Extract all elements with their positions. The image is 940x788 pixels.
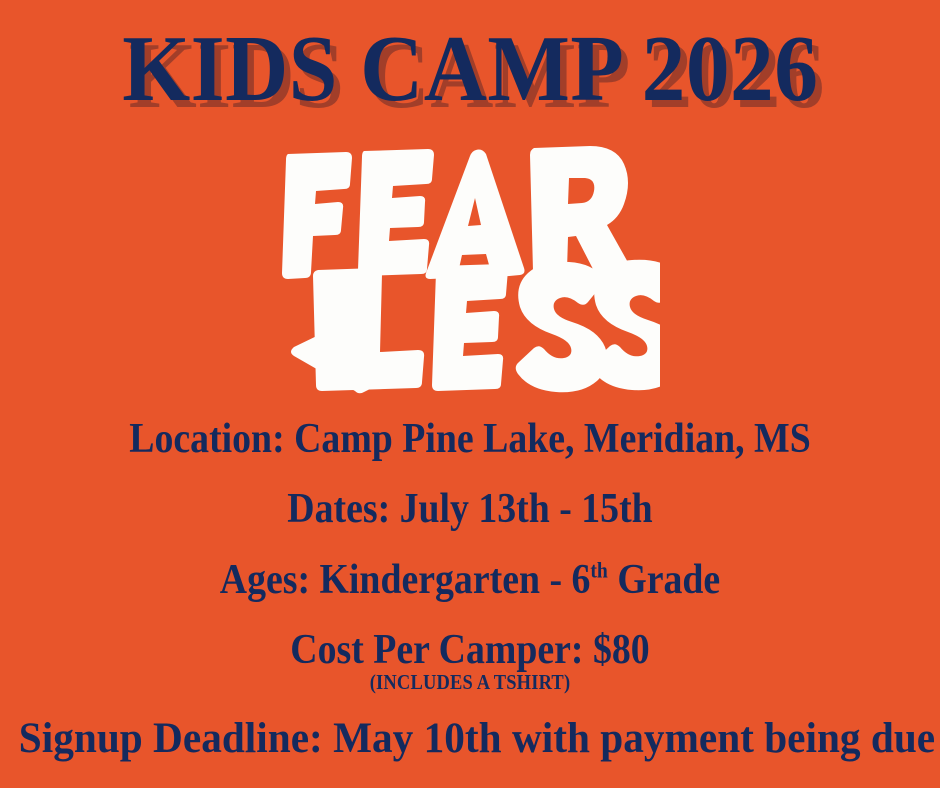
deadline-line: Signup Deadline: May 10th with payment b… <box>19 717 921 760</box>
ages-ordinal-suffix: th <box>590 558 607 582</box>
title-container: KIDS CAMP 2026 <box>0 22 940 116</box>
page-title: KIDS CAMP 2026 <box>122 22 818 116</box>
ages-prefix: Ages: Kindergarten - 6 <box>220 557 591 603</box>
location-line: Location: Camp Pine Lake, Meridian, MS <box>47 418 893 460</box>
fearless-logo <box>0 146 940 396</box>
info-block: Location: Camp Pine Lake, Meridian, MS D… <box>0 418 940 760</box>
fearless-logo-icon <box>280 146 660 394</box>
flyer-poster: KIDS CAMP 2026 <box>0 0 940 788</box>
ages-suffix: Grade <box>608 557 720 603</box>
dates-line: Dates: July 13th - 15th <box>47 488 893 530</box>
cost-line: Cost Per Camper: $80 <box>47 629 893 671</box>
ages-line: Ages: Kindergarten - 6th Grade <box>47 559 893 601</box>
tshirt-note: (INCLUDES A TSHIRT) <box>56 672 883 693</box>
